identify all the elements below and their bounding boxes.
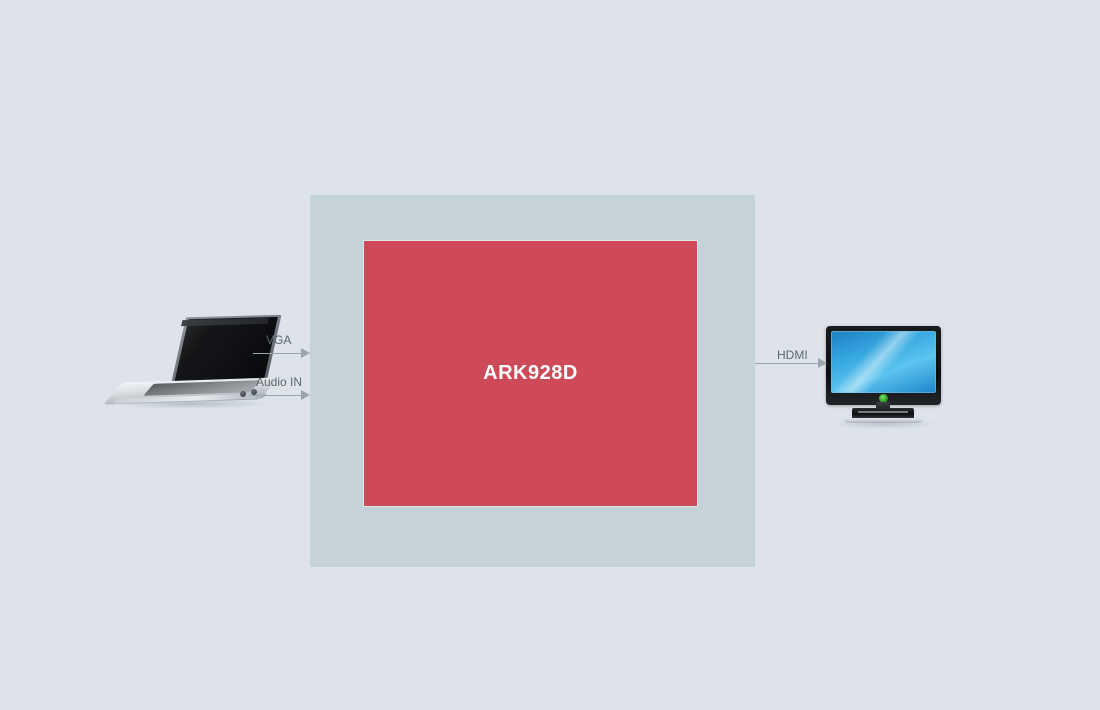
arrow-head-icon (818, 358, 827, 368)
arrow-head-icon (301, 348, 310, 358)
device-label: ARK928D (364, 241, 697, 506)
connector-label-hdmi: HDMI (777, 348, 808, 362)
connector-arrow-vga (253, 345, 310, 363)
connector-label-audio: Audio IN (256, 375, 302, 389)
tv-graphic (826, 326, 944, 428)
diagram-canvas: ARK928D VGA Audio IN HDMI (0, 0, 1100, 710)
connector-line (755, 363, 818, 364)
connector-line (249, 395, 301, 396)
arrow-head-icon (301, 390, 310, 400)
tv-stand-strip (858, 411, 908, 413)
tv-screen (831, 331, 936, 393)
tv-shadow (832, 421, 936, 429)
laptop-graphic (112, 312, 272, 417)
laptop-port-icon (240, 391, 246, 397)
connector-label-vga: VGA (266, 333, 291, 347)
connector-line (253, 353, 301, 354)
connector-arrow-audio (249, 387, 310, 405)
